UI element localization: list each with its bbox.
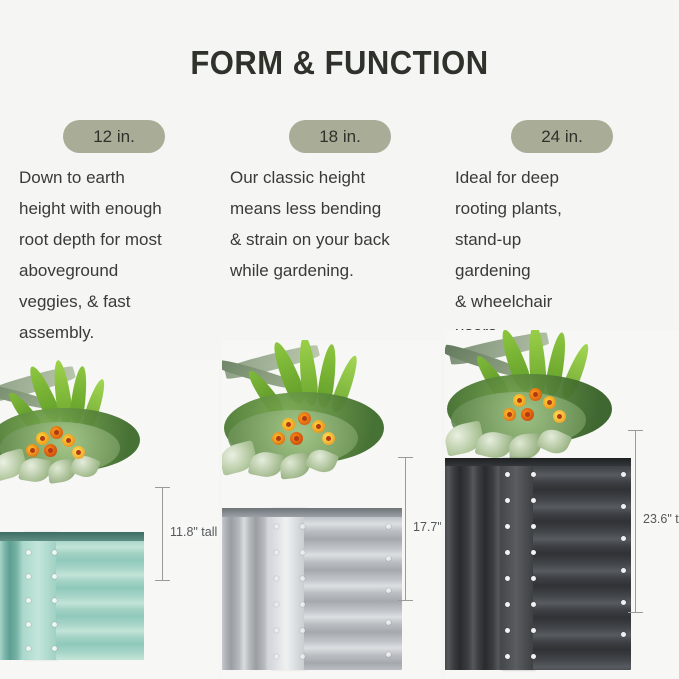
description-18in: Our classic height means less bending & … xyxy=(230,162,430,286)
bed-side-panel xyxy=(445,458,509,670)
raised-garden-bed-12in xyxy=(0,532,144,660)
bed-front-panel xyxy=(533,458,631,670)
size-badge-18in-label: 18 in. xyxy=(319,127,361,147)
bed-rivets-far-right xyxy=(619,458,629,670)
flower xyxy=(282,418,295,431)
product-photo-24in: 23.6" tall xyxy=(445,330,679,679)
flower xyxy=(44,444,57,457)
flower xyxy=(50,426,63,439)
photo-canvas-18in: 17.7" tall xyxy=(222,340,441,679)
page-title: FORM & FUNCTION xyxy=(20,44,658,82)
bed-rivets-right xyxy=(529,458,539,670)
dimension-label-12in: 11.8" tall xyxy=(168,525,219,539)
flower xyxy=(290,432,303,445)
description-24in: Ideal for deep rooting plants, stand-up … xyxy=(455,162,660,348)
flower xyxy=(503,408,516,421)
flower xyxy=(529,388,542,401)
product-photo-18in: 17.7" tall xyxy=(222,340,441,679)
flower xyxy=(298,412,311,425)
dimension-label-24in: 23.6" tall xyxy=(641,512,679,526)
size-badge-24in-label: 24 in. xyxy=(541,127,583,147)
dimension-line xyxy=(405,457,406,600)
dimension-line xyxy=(635,430,636,612)
raised-garden-bed-24in xyxy=(445,458,631,670)
flower xyxy=(521,408,534,421)
plant-foliage-18in xyxy=(222,340,441,510)
dimension-cap-bottom xyxy=(628,612,643,613)
plant-foliage-12in xyxy=(0,360,219,500)
flower xyxy=(272,432,285,445)
flower xyxy=(72,446,85,459)
raised-garden-bed-18in xyxy=(222,508,402,670)
bed-rivets-right xyxy=(50,532,60,660)
bed-rivets-left xyxy=(272,508,282,670)
size-badge-12in-label: 12 in. xyxy=(93,127,135,147)
product-photo-12in: 11.8" tall xyxy=(0,360,219,679)
bed-rivets-far-right xyxy=(384,508,394,670)
bed-top-rim xyxy=(0,532,144,541)
flower xyxy=(553,410,566,423)
description-12in: Down to earth height with enough root de… xyxy=(19,162,219,348)
flower xyxy=(62,434,75,447)
bed-top-rim xyxy=(222,508,402,517)
flower xyxy=(26,444,39,457)
dimension-cap-bottom xyxy=(398,600,413,601)
flower xyxy=(513,394,526,407)
photo-canvas-12in: 11.8" tall xyxy=(0,360,219,679)
bed-rivets-left xyxy=(503,458,513,670)
bed-front-panel xyxy=(56,532,144,660)
bed-rivets-left xyxy=(24,532,34,660)
bed-rivets-right xyxy=(298,508,308,670)
dimension-line xyxy=(162,487,163,580)
dimension-cap-bottom xyxy=(155,580,170,581)
flower xyxy=(543,396,556,409)
dimension-label-18in: 17.7" tall xyxy=(411,520,441,534)
flower xyxy=(322,432,335,445)
size-badge-12in: 12 in. xyxy=(63,120,165,153)
photo-canvas-24in: 23.6" tall xyxy=(445,330,679,679)
infographic-page: FORM & FUNCTION 12 in. 18 in. 24 in. Dow… xyxy=(0,0,679,679)
size-badge-18in: 18 in. xyxy=(289,120,391,153)
size-badge-24in: 24 in. xyxy=(511,120,613,153)
flower xyxy=(312,420,325,433)
flower xyxy=(36,432,49,445)
